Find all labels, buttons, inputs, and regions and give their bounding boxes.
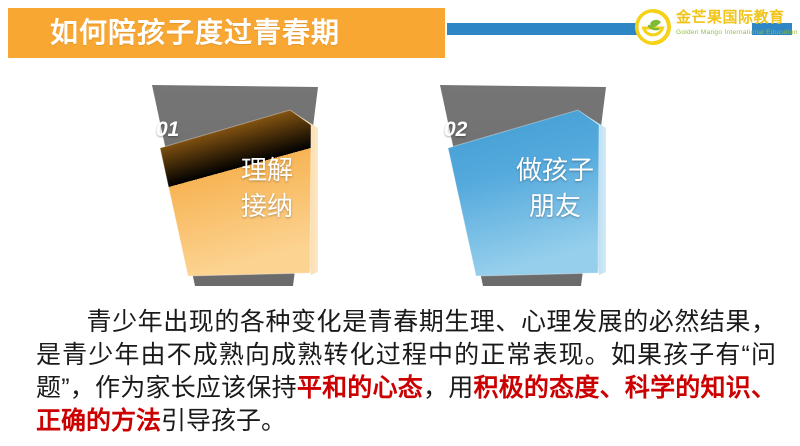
body-highlight-1: 平和的心态 [297, 374, 423, 402]
brand-logo: 金芒果国际教育 Golden Mango International Educa… [634, 6, 794, 50]
logo-name-en: Golden Mango International Education [676, 30, 798, 37]
body-segment-3: 引导孩子。 [161, 407, 286, 435]
card-01-number: 01 [156, 119, 179, 140]
card-02[interactable]: 02 做孩子 朋友 [418, 60, 678, 300]
card-02-label: 做孩子 朋友 [470, 152, 640, 224]
card-02-number: 02 [444, 119, 467, 140]
body-paragraph: 青少年出现的各种变化是青春期生理、心理发展的必然结果，是青少年由不成熟向成熟转化… [36, 306, 776, 438]
body-segment-2: ，用 [423, 374, 473, 402]
logo-name-cn: 金芒果国际教育 [676, 10, 785, 25]
mango-logo-icon [634, 8, 672, 46]
header-blue-bar [447, 23, 637, 35]
slide-canvas: 如何陪孩子度过青春期 金芒果国际教育 Golden Mango Internat… [0, 0, 800, 446]
card-01-label: 理解 接纳 [182, 152, 352, 224]
card-row: 01 理解 接纳 [0, 60, 800, 300]
page-title: 如何陪孩子度过青春期 [8, 8, 445, 58]
card-01[interactable]: 01 理解 接纳 [130, 60, 390, 300]
